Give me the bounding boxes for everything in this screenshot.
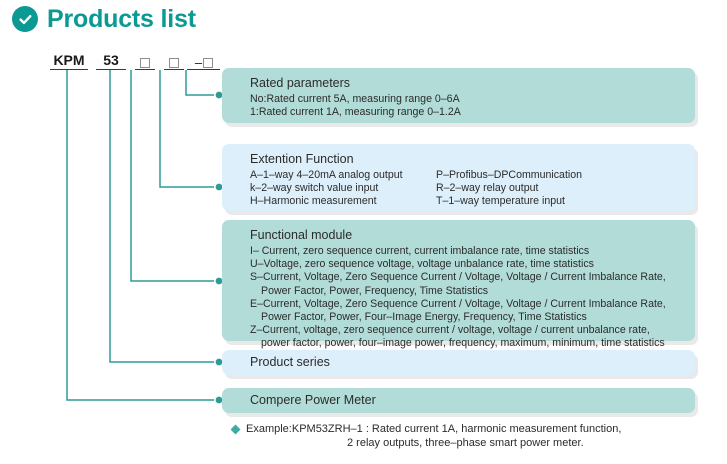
box-compere-power-meter: Compere Power Meter bbox=[222, 388, 695, 413]
extention-columns: A–1–way 4–20mA analog output k–2–way swi… bbox=[250, 169, 695, 209]
extention-column-left: A–1–way 4–20mA analog output k–2–way swi… bbox=[250, 169, 436, 209]
box-line: 1:Rated current 1A, measuring range 0–1.… bbox=[250, 106, 695, 119]
box-line: R–2–way relay output bbox=[436, 182, 695, 195]
box-title: Extention Function bbox=[250, 151, 695, 168]
footnote-text: Example:KPM53ZRH–1 : Rated current 1A, h… bbox=[246, 422, 621, 450]
footnote: Example:KPM53ZRH–1 : Rated current 1A, h… bbox=[232, 422, 621, 450]
code-placeholder-square bbox=[140, 58, 150, 68]
box-line: P–Profibus–DPCommunication bbox=[436, 169, 695, 182]
code-segment-rated-parameters: – bbox=[187, 58, 220, 70]
box-line: Power Factor, Power, Frequency, Time Sta… bbox=[250, 285, 695, 298]
check-circle-icon bbox=[12, 6, 38, 32]
box-line: H–Harmonic measurement bbox=[250, 195, 436, 208]
footnote-line-1: Example:KPM53ZRH–1 : Rated current 1A, h… bbox=[246, 422, 621, 436]
box-title: Compere Power Meter bbox=[250, 392, 695, 409]
box-line: A–1–way 4–20mA analog output bbox=[250, 169, 436, 182]
box-line: No:Rated current 5A, measuring range 0–6… bbox=[250, 93, 695, 106]
code-segment-brand: KPM bbox=[50, 53, 88, 70]
diamond-icon bbox=[231, 425, 241, 435]
box-extention-function: Extention Function A–1–way 4–20mA analog… bbox=[222, 144, 695, 211]
model-code-row: KPM 53 – bbox=[50, 53, 220, 70]
code-placeholder-square bbox=[203, 58, 213, 68]
box-line: U–Voltage, zero sequence voltage, voltag… bbox=[250, 258, 695, 271]
box-line: power factor, power, four–image power, f… bbox=[250, 337, 695, 350]
extention-column-right: P–Profibus–DPCommunication R–2–way relay… bbox=[436, 169, 695, 209]
box-line: S–Current, Voltage, Zero Sequence Curren… bbox=[250, 271, 695, 284]
code-placeholder-square bbox=[169, 58, 179, 68]
box-line: Power Factor, Power, Four–Image Energy, … bbox=[250, 311, 695, 324]
box-line: I– Current, zero sequence current, curre… bbox=[250, 245, 695, 258]
code-segment-functional-module bbox=[135, 58, 155, 70]
box-title: Functional module bbox=[250, 227, 695, 244]
code-dash: – bbox=[195, 58, 202, 68]
box-product-series: Product series bbox=[222, 350, 695, 375]
page-header: Products list bbox=[12, 6, 196, 32]
box-line: k–2–way switch value input bbox=[250, 182, 436, 195]
box-functional-module: Functional module I– Current, zero seque… bbox=[222, 220, 695, 341]
footnote-line-2: 2 relay outputs, three–phase smart power… bbox=[246, 436, 621, 450]
box-rated-parameters: Rated parameters No:Rated current 5A, me… bbox=[222, 68, 695, 123]
code-segment-extention-function bbox=[164, 58, 184, 70]
box-title: Rated parameters bbox=[250, 75, 695, 92]
page-title: Products list bbox=[47, 7, 196, 32]
code-segment-series: 53 bbox=[96, 53, 126, 70]
box-line: T–1–way temperature input bbox=[436, 195, 695, 208]
box-line: Z–Current, voltage, zero sequence curren… bbox=[250, 324, 695, 337]
box-title: Product series bbox=[250, 354, 695, 371]
box-line: E–Current, Voltage, Zero Sequence Curren… bbox=[250, 298, 695, 311]
